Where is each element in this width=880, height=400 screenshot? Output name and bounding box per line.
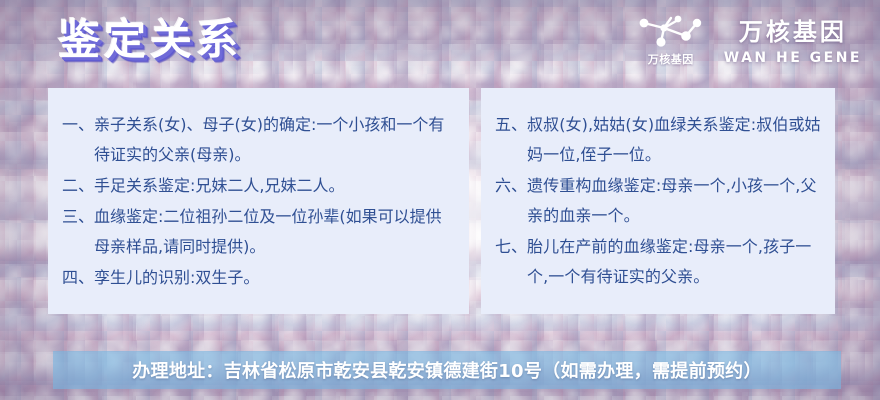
list-item-text: 亲子关系(女)、母子(女)的确定:一个小孩和一个有待证实的父亲(母亲)。 [94,110,455,170]
list-item-marker: 五、 [495,110,527,140]
brand-mark: 万核基因 [632,14,710,70]
list-item-marker: 四、 [62,263,94,293]
list-item-text: 叔叔(女),姑姑(女)血绿关系鉴定:叔伯或姑妈一位,侄子一位。 [527,110,821,170]
list-item: 五、 叔叔(女),姑姑(女)血绿关系鉴定:叔伯或姑妈一位,侄子一位。 [495,110,821,170]
list-item-marker: 三、 [62,202,94,232]
list-item-marker: 六、 [495,171,527,201]
poster-canvas: 鉴定关系 [0,0,880,400]
footer-address-text: 办理地址：吉林省松原市乾安县乾安镇德建街10号（如需办理，需提前预约） [132,357,762,383]
header: 鉴定关系 [0,0,880,88]
list-item-marker: 七、 [495,232,527,262]
footer-address-band: 办理地址：吉林省松原市乾安县乾安镇德建街10号（如需办理，需提前预约） [53,351,841,389]
brand-name-cn: 万核基因 [739,20,847,44]
brand-name-block: 万核基因 WAN HE GENE [724,20,862,65]
content-panels: 一、 亲子关系(女)、母子(女)的确定:一个小孩和一个有待证实的父亲(母亲)。 … [48,88,835,314]
panel-right: 五、 叔叔(女),姑姑(女)血绿关系鉴定:叔伯或姑妈一位,侄子一位。 六、 遗传… [481,88,835,314]
list-item-text: 血缘鉴定:二位祖孙二位及一位孙辈(如果可以提供母亲样品,请同时提供)。 [94,202,455,262]
list-item-text: 孪生儿的识别:双生子。 [94,263,259,293]
list-item: 三、 血缘鉴定:二位祖孙二位及一位孙辈(如果可以提供母亲样品,请同时提供)。 [62,202,455,262]
relationship-list-right: 五、 叔叔(女),姑姑(女)血绿关系鉴定:叔伯或姑妈一位,侄子一位。 六、 遗传… [495,110,821,292]
list-item-text: 胎儿在产前的血缘鉴定:母亲一个,孩子一个,一个有待证实的父亲。 [527,232,821,292]
brand-lockup: 万核基因 万核基因 WAN HE GENE [632,14,862,70]
list-item-marker: 二、 [62,171,94,201]
list-item: 六、 遗传重构血缘鉴定:母亲一个,小孩一个,父亲的血亲一个。 [495,171,821,231]
brand-name-en: WAN HE GENE [724,51,862,65]
list-item-text: 遗传重构血缘鉴定:母亲一个,小孩一个,父亲的血亲一个。 [527,171,821,231]
list-item: 二、 手足关系鉴定:兄妹二人,兄妹二人。 [62,171,455,201]
list-item-text: 手足关系鉴定:兄妹二人,兄妹二人。 [94,171,344,201]
panel-left: 一、 亲子关系(女)、母子(女)的确定:一个小孩和一个有待证实的父亲(母亲)。 … [48,88,469,314]
brand-mark-label: 万核基因 [648,51,694,67]
list-item: 七、 胎儿在产前的血缘鉴定:母亲一个,孩子一个,一个有待证实的父亲。 [495,232,821,292]
relationship-list-left: 一、 亲子关系(女)、母子(女)的确定:一个小孩和一个有待证实的父亲(母亲)。 … [62,110,455,293]
molecule-icon [634,14,708,50]
list-item-marker: 一、 [62,110,94,140]
list-item: 四、 孪生儿的识别:双生子。 [62,263,455,293]
list-item: 一、 亲子关系(女)、母子(女)的确定:一个小孩和一个有待证实的父亲(母亲)。 [62,110,455,170]
page-title: 鉴定关系 [58,16,242,64]
